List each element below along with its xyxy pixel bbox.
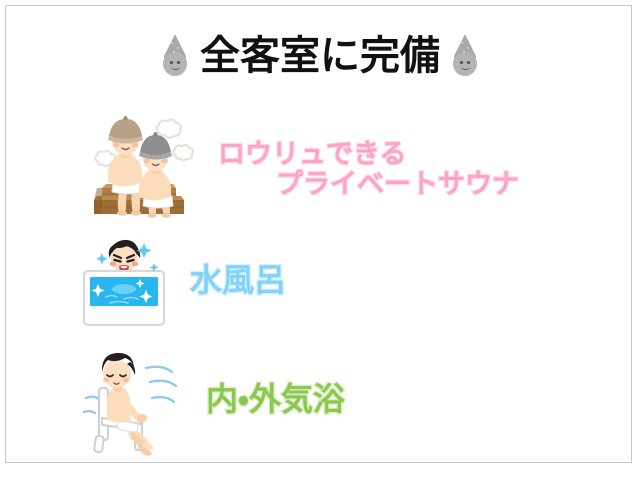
feature-label-line1: ロウリュできる — [218, 141, 600, 169]
feature-row-private-sauna: ロウリュできる プライベートサウナ — [80, 118, 600, 222]
sauna-stone-icon — [162, 34, 188, 78]
feature-label-line1: 内・外気浴 — [206, 383, 600, 417]
page-title-row: 全客室に完備 — [0, 24, 640, 88]
sauna-stone-icon — [452, 34, 478, 78]
person-in-cold-bath-icon — [80, 233, 168, 329]
person-on-chair-relaxing-icon — [80, 346, 184, 454]
page-title: 全客室に完備 — [200, 36, 440, 76]
feature-label-outdoor-air-bath: 内・外気浴 — [184, 383, 600, 417]
feature-row-cold-bath: 水風呂 — [80, 232, 600, 330]
slide: 全客室に完備 — [0, 0, 640, 477]
feature-row-outdoor-air-bath: 内・外気浴 — [80, 345, 600, 455]
feature-label-line2: プライベートサウナ — [218, 171, 600, 199]
two-people-in-sauna-icon — [80, 118, 198, 222]
feature-label-cold-bath: 水風呂 — [168, 264, 600, 298]
feature-label-line1: 水風呂 — [190, 264, 600, 298]
feature-label-private-sauna: ロウリュできる プライベートサウナ — [198, 141, 600, 200]
